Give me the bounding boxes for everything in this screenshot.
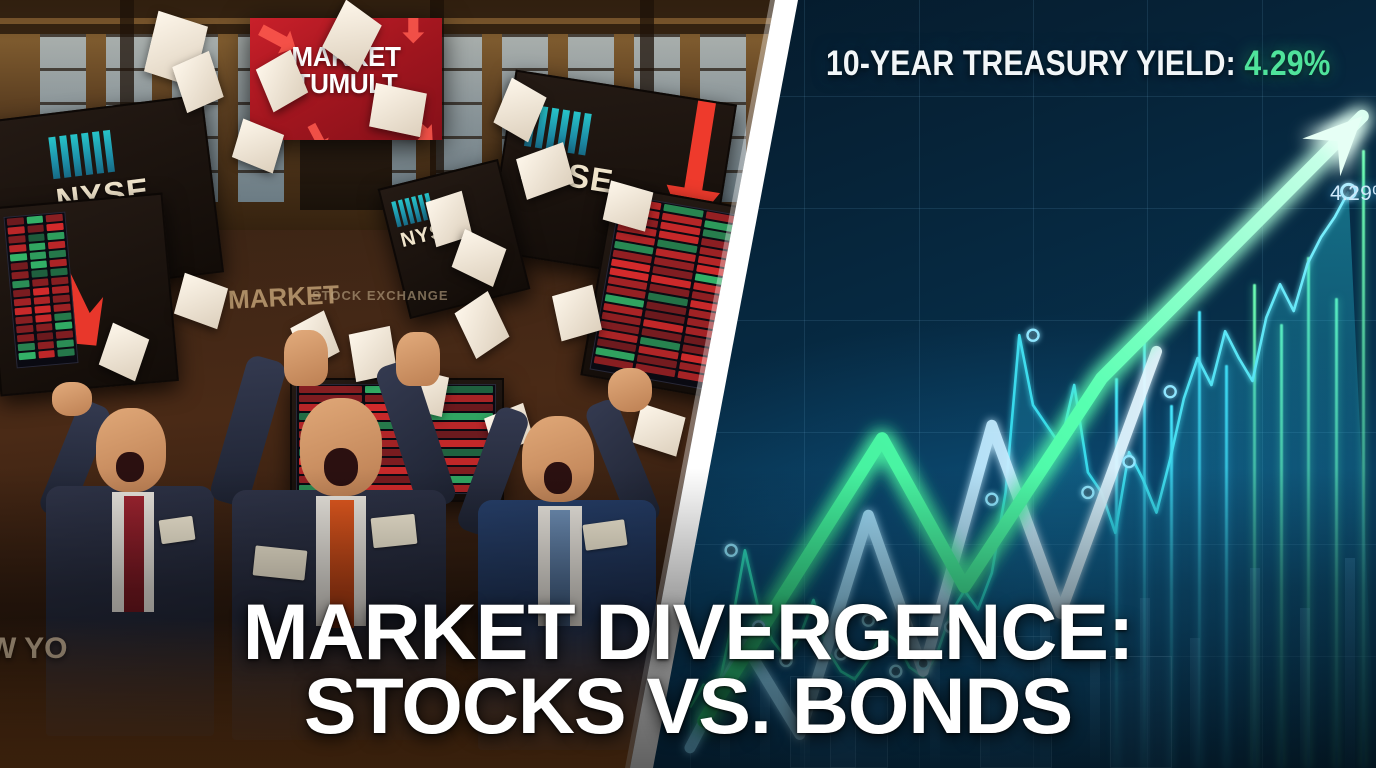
window-mullion [40, 102, 86, 105]
ticker-cell [53, 295, 70, 303]
ticker-cell [430, 422, 493, 429]
ticker-cell [36, 332, 53, 340]
ticker-cell [47, 232, 64, 240]
chart-marker-dot [726, 545, 737, 556]
ticker-cell [7, 217, 24, 225]
billboard-stem [300, 140, 392, 210]
ticker-cell [26, 216, 43, 224]
yield-headline: 10-YEAR TREASURY YIELD: 4.29% [826, 44, 1331, 84]
ticker-cell [11, 271, 28, 279]
last-point-label: 4.29% [1330, 182, 1376, 206]
ticker-cell [50, 259, 67, 267]
ceiling-beam [0, 0, 790, 18]
ticker-cell [15, 316, 32, 324]
ticker-cell [31, 269, 48, 277]
ticker-cell [9, 244, 26, 252]
ticker-cell [18, 352, 35, 360]
window-mullion [700, 68, 746, 71]
ticker-cell [28, 233, 45, 241]
billboard-arrow-icon-4: ➡ [294, 114, 343, 140]
ticker-cell [299, 386, 362, 393]
yield-headline-value: 4.29% [1244, 44, 1330, 83]
flying-paper [632, 403, 685, 456]
ticker-cell [54, 312, 71, 320]
ticker-cell [18, 343, 35, 351]
window-mullion [40, 34, 86, 37]
ticker-cell [32, 278, 49, 286]
ticker-cell [38, 350, 55, 358]
window-mullion [40, 68, 86, 71]
nyse-bars-icon [48, 126, 146, 179]
window-mullion [568, 68, 614, 71]
ticker-cell [33, 287, 50, 295]
chart-marker-dot [986, 494, 997, 505]
ticker-cell [56, 330, 73, 338]
window-mullion [238, 170, 284, 173]
ticker-cell [10, 253, 27, 261]
ticker-cell [46, 214, 63, 222]
floor-sign-exchange: STOCK EXCHANGE [312, 288, 449, 303]
ticker-cell [51, 268, 68, 276]
ticker-cell [11, 262, 28, 270]
ticker-cell [57, 339, 74, 347]
ticker-board-left [3, 212, 78, 369]
ticker-cell [8, 235, 25, 243]
ticker-cell [51, 277, 68, 285]
poster-canvas: 10-YEAR TREASURY YIELD: 4.29% 4.29% ➡ ➡ … [0, 0, 1376, 768]
chart-marker-dot [1082, 487, 1093, 498]
ticker-cell [54, 303, 71, 311]
ticker-cell [49, 250, 66, 258]
ticker-cell [48, 241, 65, 249]
poster-title-line-2: STOCKS VS. BONDS [0, 669, 1376, 742]
window-mullion [502, 34, 548, 37]
ticker-cell [16, 325, 33, 333]
ticker-cell [47, 223, 64, 231]
ticker-cell [58, 348, 75, 356]
ticker-cell [15, 307, 32, 315]
ticker-cell [52, 286, 69, 294]
ticker-cell [430, 431, 493, 438]
window-mullion [700, 34, 746, 37]
chart-marker-dot [1028, 330, 1039, 341]
ticker-cell [30, 260, 47, 268]
poster-title: MARKET DIVERGENCE: STOCKS VS. BONDS [0, 595, 1376, 742]
ticker-cell [13, 289, 30, 297]
ticker-cell [33, 296, 50, 304]
ticker-cell [36, 323, 53, 331]
ticker-cell [29, 242, 46, 250]
ticker-cell [17, 334, 34, 342]
ticker-cell [14, 298, 31, 306]
flying-paper [174, 273, 228, 329]
chart-marker-dot [1165, 386, 1176, 397]
ticker-cell [37, 341, 54, 349]
ticker-cell [27, 225, 44, 233]
window-mullion [568, 34, 614, 37]
yield-headline-label: 10-YEAR TREASURY YIELD: [826, 44, 1236, 83]
ticker-cell [55, 321, 72, 329]
ticker-cell [35, 314, 52, 322]
ticker-cell [34, 305, 51, 313]
ticker-cell [7, 226, 24, 234]
poster-title-line-1: MARKET DIVERGENCE: [0, 595, 1376, 668]
chart-marker-dot [1124, 456, 1135, 467]
ticker-cell [29, 251, 46, 259]
ticker-cell [12, 280, 29, 288]
